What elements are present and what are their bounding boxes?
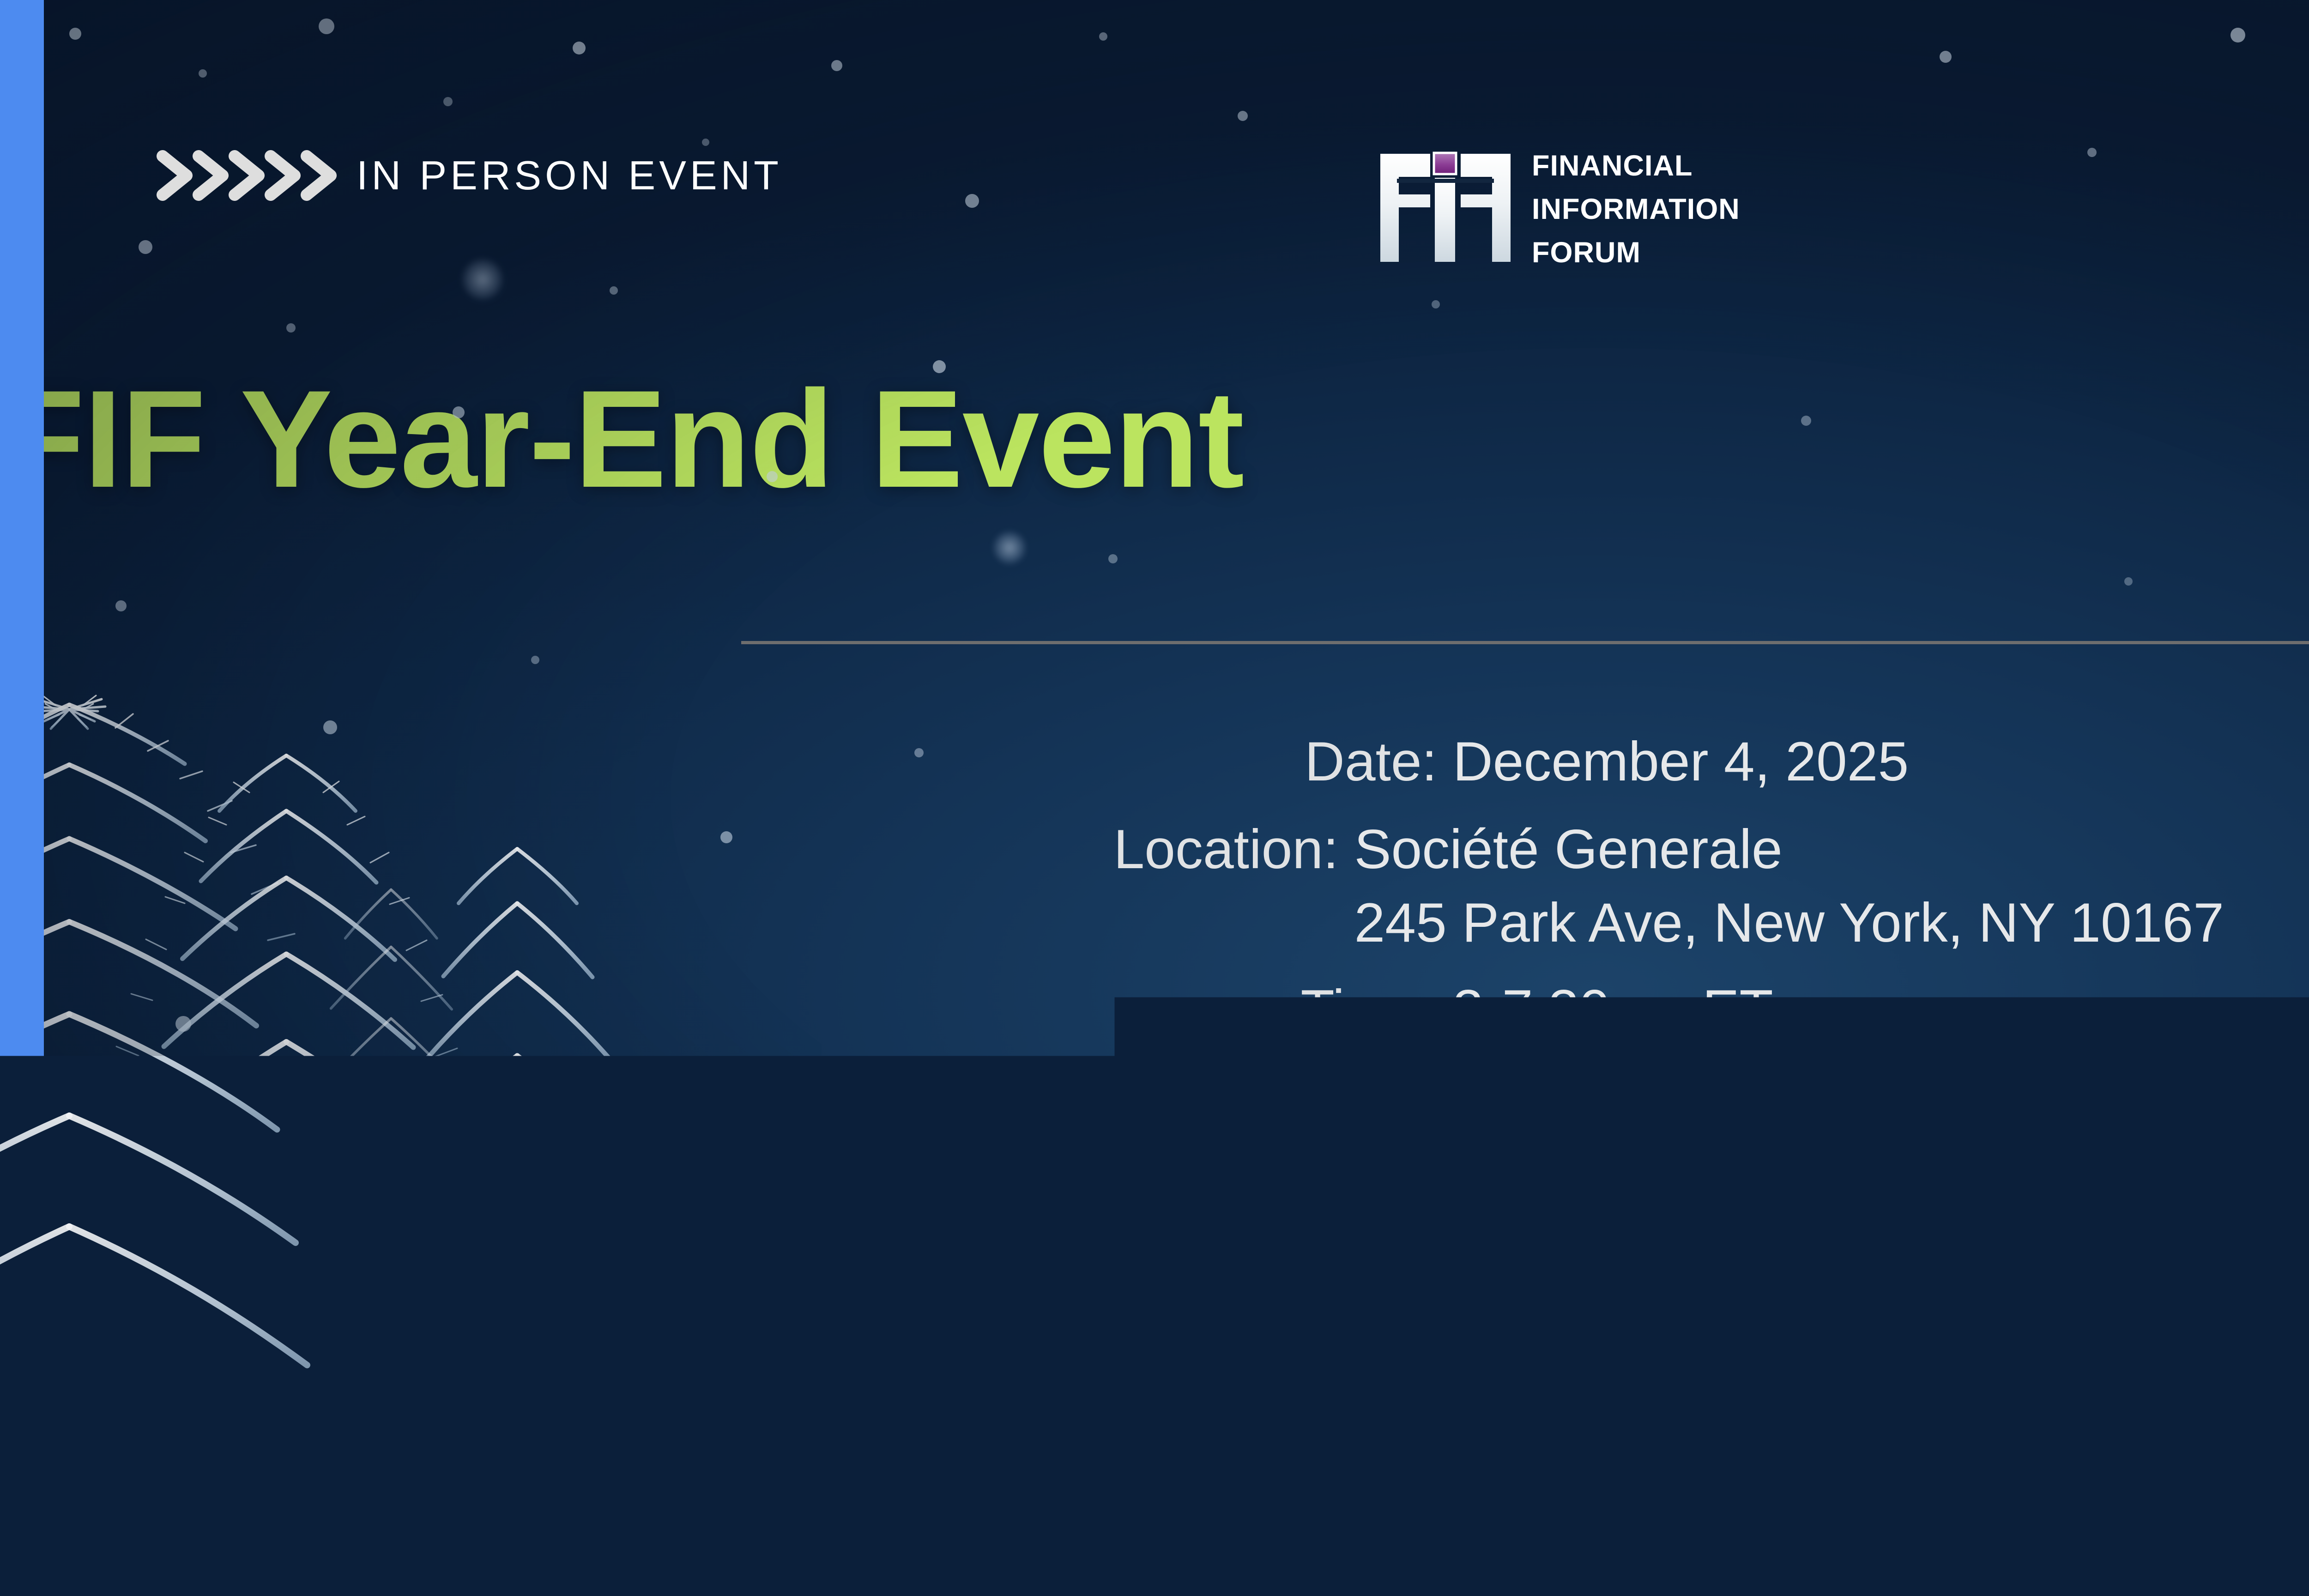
social-handle-label[interactable]: /Financial Information Forum (1383, 1361, 1935, 1411)
snow-bank-decoration (0, 1457, 2309, 1596)
linkedin-icon[interactable] (1257, 1360, 1307, 1411)
date-value: December 4, 2025 (1453, 725, 2224, 798)
fif-word-financial: FINANCIAL (1532, 152, 1740, 180)
detail-row-time: Time: 3-7:30pm ET (968, 973, 2224, 1046)
detail-row-date: Date: December 4, 2025 (968, 725, 2224, 798)
fif-logo-mark (1378, 150, 1512, 266)
fif-logo: FINANCIAL INFORMATION FORUM (1378, 150, 1740, 266)
location-venue: Société Generale (1354, 818, 1783, 880)
time-value: 3-7:30pm ET (1453, 973, 2224, 1046)
detail-row-location: Location: Société Generale 245 Park Ave,… (968, 813, 2224, 959)
in-person-event-badge: IN PERSON EVENT (152, 148, 782, 203)
location-label: Location: (968, 813, 1354, 886)
event-title: FIF Year-End Event (0, 369, 2309, 508)
fif-logo-wordmark: FINANCIAL INFORMATION FORUM (1532, 150, 1740, 266)
fif-word-forum: FORUM (1532, 239, 1740, 266)
banner-header: IN PERSON EVENT (0, 0, 2309, 296)
date-label: Date: (968, 725, 1453, 798)
title-divider (741, 641, 2309, 644)
sponsor-value: n-Tier fs (1453, 1049, 2224, 1122)
location-value: Société Generale 245 Park Ave, New York,… (1354, 813, 2224, 959)
detail-row-sponsor: Sponsor: n-Tier fs (968, 1049, 2224, 1122)
location-address: 245 Park Ave, New York, NY 10167 (1354, 886, 2224, 959)
event-details: Date: December 4, 2025 Location: Société… (0, 725, 2309, 1127)
fif-word-information: INFORMATION (1532, 195, 1740, 223)
left-accent-stripe (0, 0, 44, 1596)
sponsor-label: Sponsor: (968, 1049, 1453, 1122)
event-banner: IN PERSON EVENT (0, 0, 2309, 1596)
globe-icon[interactable] (1319, 1360, 1371, 1412)
time-label: Time: (968, 973, 1453, 1046)
chevron-right-icon (152, 148, 337, 203)
social-footer: /Financial Information Forum (0, 1360, 2309, 1412)
in-person-event-label: IN PERSON EVENT (357, 152, 782, 199)
